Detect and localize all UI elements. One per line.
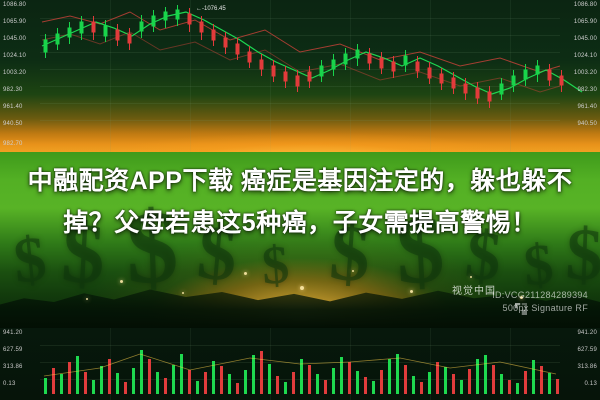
dollar-sign-glyph: $ xyxy=(260,237,291,293)
top-axis-right-6: 961.40 xyxy=(577,104,597,110)
watermark-id: ID:VCG211284289394 xyxy=(492,290,588,300)
top-axis-corner-label: 982.70 xyxy=(3,141,23,147)
top-axis-left-4: 1003.20 xyxy=(3,70,26,76)
bottom-axis-right-2: 313.86 xyxy=(577,364,597,370)
top-axis-left-7: 940.50 xyxy=(3,121,23,127)
top-axis-right-5: 982.30 xyxy=(577,87,597,93)
top-axis-right-2: 1045.00 xyxy=(574,36,597,42)
bottom-axis-right-1: 627.59 xyxy=(577,347,597,353)
headline-line-2: 掉？父母若患这5种癌，子女需提高警惕！ xyxy=(0,202,600,244)
bottom-axis-left-3: 0.13 xyxy=(3,381,15,387)
bottom-axis-left-1: 627.59 xyxy=(3,347,23,353)
top-axis-left-0: 1086.80 xyxy=(3,2,26,8)
top-axis-left-3: 1024.10 xyxy=(3,53,26,59)
page-title: 中融配资APP下载 癌症是基因注定的，躲也躲不 掉？父母若患这5种癌，子女需提高… xyxy=(0,160,600,244)
top-axis-left-1: 1065.90 xyxy=(3,19,26,25)
top-axis-right-7: 940.50 xyxy=(577,121,597,127)
promotional-banner: 1086.80 1065.90 1045.00 1024.10 1003.20 … xyxy=(0,0,600,400)
top-axis-left-2: 1045.00 xyxy=(3,36,26,42)
sunset-glow xyxy=(0,107,600,152)
bottom-axis-left-2: 313.86 xyxy=(3,364,23,370)
top-axis-right-4: 1003.20 xyxy=(574,70,597,76)
bottom-chart-panel: 941.20 627.59 313.86 0.13 941.20 627.59 … xyxy=(0,328,600,400)
bottom-axis-right-3: 0.13 xyxy=(585,381,597,387)
top-axis-right-1: 1065.90 xyxy=(574,19,597,25)
volume-bars xyxy=(0,328,600,400)
top-chart-panel: 1086.80 1065.90 1045.00 1024.10 1003.20 … xyxy=(0,0,600,152)
top-axis-right-0: 1086.80 xyxy=(574,2,597,8)
headline-line-1: 中融配资APP下载 癌症是基因注定的，躲也躲不 xyxy=(0,160,600,202)
bottom-axis-right-0: 941.20 xyxy=(577,330,597,336)
watermark-license: 500px Signature RF xyxy=(503,303,588,313)
top-axis-left-5: 982.30 xyxy=(3,87,23,93)
top-axis-left-6: 961.40 xyxy=(3,104,23,110)
top-axis-right-3: 1024.10 xyxy=(574,53,597,59)
price-callout: ←-1076.45 xyxy=(196,6,226,12)
bottom-axis-left-0: 941.20 xyxy=(3,330,23,336)
